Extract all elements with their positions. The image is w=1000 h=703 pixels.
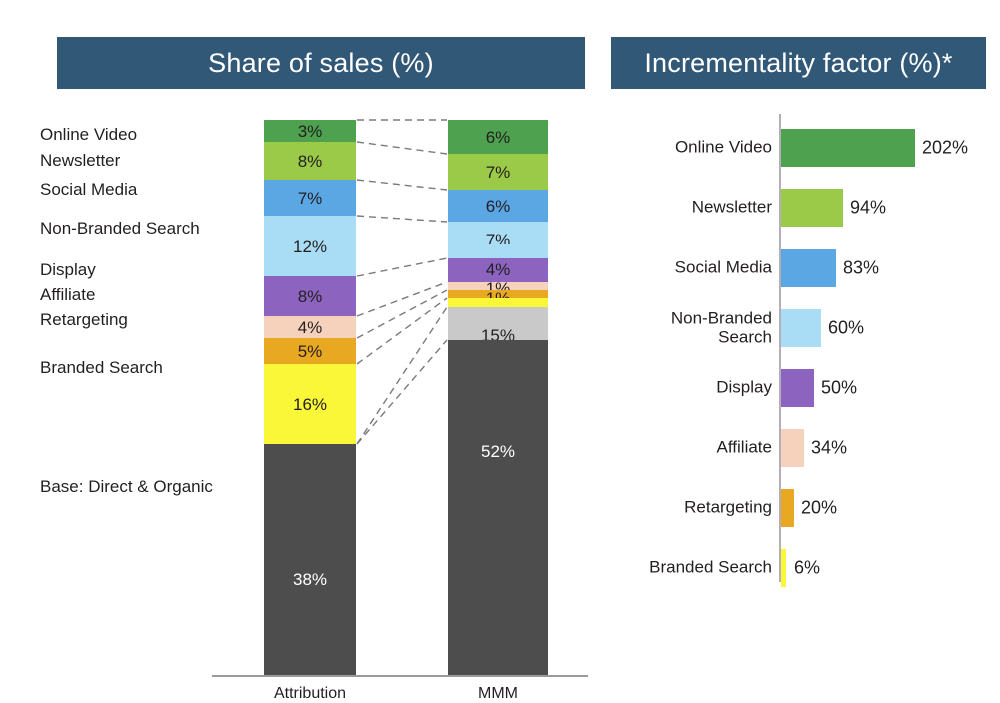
x-axis-tick-mmm: MMM (438, 685, 558, 703)
category-label-base-direct-organic: Base: Direct & Organic (40, 478, 213, 496)
attribution-segment-display: 8% (264, 276, 356, 316)
mmm-segment-newsletter: 7% (448, 154, 548, 190)
bar-value: 50% (821, 378, 857, 399)
category-label-newsletter: Newsletter (40, 152, 120, 170)
bar-value: 202% (922, 138, 968, 159)
category-label-branded-search: Branded Search (40, 359, 163, 377)
attribution-segment-retargeting: 5% (264, 338, 356, 364)
segment-value: 52% (481, 443, 515, 460)
bar-fill-newsletter (781, 189, 843, 227)
mmm-segment-base: 52% (448, 340, 548, 675)
segment-value: 4% (486, 261, 511, 278)
category-label-retargeting: Retargeting (40, 311, 128, 329)
segment-value: 8% (298, 153, 323, 170)
bar-value: 34% (811, 438, 847, 459)
attribution-segment-newsletter: 8% (264, 142, 356, 180)
bar-fill-social-media (781, 249, 836, 287)
segment-value: 5% (298, 343, 323, 360)
x-axis-line (212, 675, 588, 677)
category-label-affiliate: Affiliate (40, 286, 95, 304)
bar-value: 6% (794, 558, 820, 579)
attribution-segment-affiliate: 4% (264, 316, 356, 338)
bar-fill-non-branded-search (781, 309, 821, 347)
bar-value: 94% (850, 198, 886, 219)
attribution-segment-online-video: 3% (264, 120, 356, 142)
incrementality-bar-chart: Online Video 202% Newsletter 94% Social … (600, 100, 1000, 632)
bar-label: Online Video (600, 139, 772, 158)
panel-title-share-of-sales: Share of sales (%) (57, 37, 585, 89)
bar-value: 20% (801, 498, 837, 519)
attribution-segment-non-branded-search: 12% (264, 216, 356, 276)
bar-label: Social Media (600, 259, 772, 278)
bar-fill-display (781, 369, 814, 407)
bar-label: Affiliate (600, 439, 772, 458)
bar-value: 60% (828, 318, 864, 339)
bar-fill-retargeting (781, 489, 794, 527)
slide-canvas: Share of sales (%) Incrementality factor… (0, 0, 1000, 632)
bar-row-newsletter: Newsletter 94% (600, 180, 1000, 236)
mmm-segment-branded-search (448, 298, 548, 307)
bar-label: Display (600, 379, 772, 398)
bar-value: 83% (843, 258, 879, 279)
mmm-segment-retargeting: 1% (448, 290, 548, 298)
bar-row-branded-search: Branded Search 6% (600, 540, 1000, 596)
bar-row-online-video: Online Video 202% (600, 120, 1000, 176)
category-label-display: Display (40, 261, 96, 279)
bar-fill-online-video (781, 129, 915, 167)
x-axis-tick-attribution: Attribution (250, 685, 370, 703)
segment-value: 7% (486, 164, 511, 181)
bar-row-non-branded-search: Non-Branded Search 60% (600, 300, 1000, 356)
segment-value: 6% (486, 198, 511, 215)
bar-label: Branded Search (600, 559, 772, 578)
segment-value: 3% (298, 123, 323, 140)
category-label-non-branded-search: Non-Branded Search (40, 220, 200, 238)
mmm-segment-social-media: 6% (448, 190, 548, 222)
mmm-segment-online-video: 6% (448, 120, 548, 154)
segment-value: 16% (293, 396, 327, 413)
segment-value: 38% (293, 571, 327, 588)
bar-row-retargeting: Retargeting 20% (600, 480, 1000, 536)
category-label-online-video: Online Video (40, 126, 137, 144)
segment-value: 4% (298, 319, 323, 336)
attribution-segment-branded-search: 16% (264, 364, 356, 444)
stacked-bar-chart: Online Video Newsletter Social Media Non… (0, 100, 600, 632)
bar-row-affiliate: Affiliate 34% (600, 420, 1000, 476)
panel-title-incrementality-factor: Incrementality factor (%)* (611, 37, 986, 89)
bar-fill-affiliate (781, 429, 804, 467)
segment-value: 12% (293, 238, 327, 255)
bar-row-display: Display 50% (600, 360, 1000, 416)
bar-fill-branded-search (781, 549, 786, 587)
segment-value: 7% (298, 190, 323, 207)
segment-value: 6% (486, 129, 511, 146)
segment-value: 8% (298, 288, 323, 305)
attribution-segment-social-media: 7% (264, 180, 356, 216)
bar-label: Non-Branded Search (600, 309, 772, 346)
bar-label: Newsletter (600, 199, 772, 218)
bar-row-social-media: Social Media 83% (600, 240, 1000, 296)
category-label-social-media: Social Media (40, 181, 137, 199)
bar-label: Retargeting (600, 499, 772, 518)
attribution-segment-base: 38% (264, 444, 356, 675)
